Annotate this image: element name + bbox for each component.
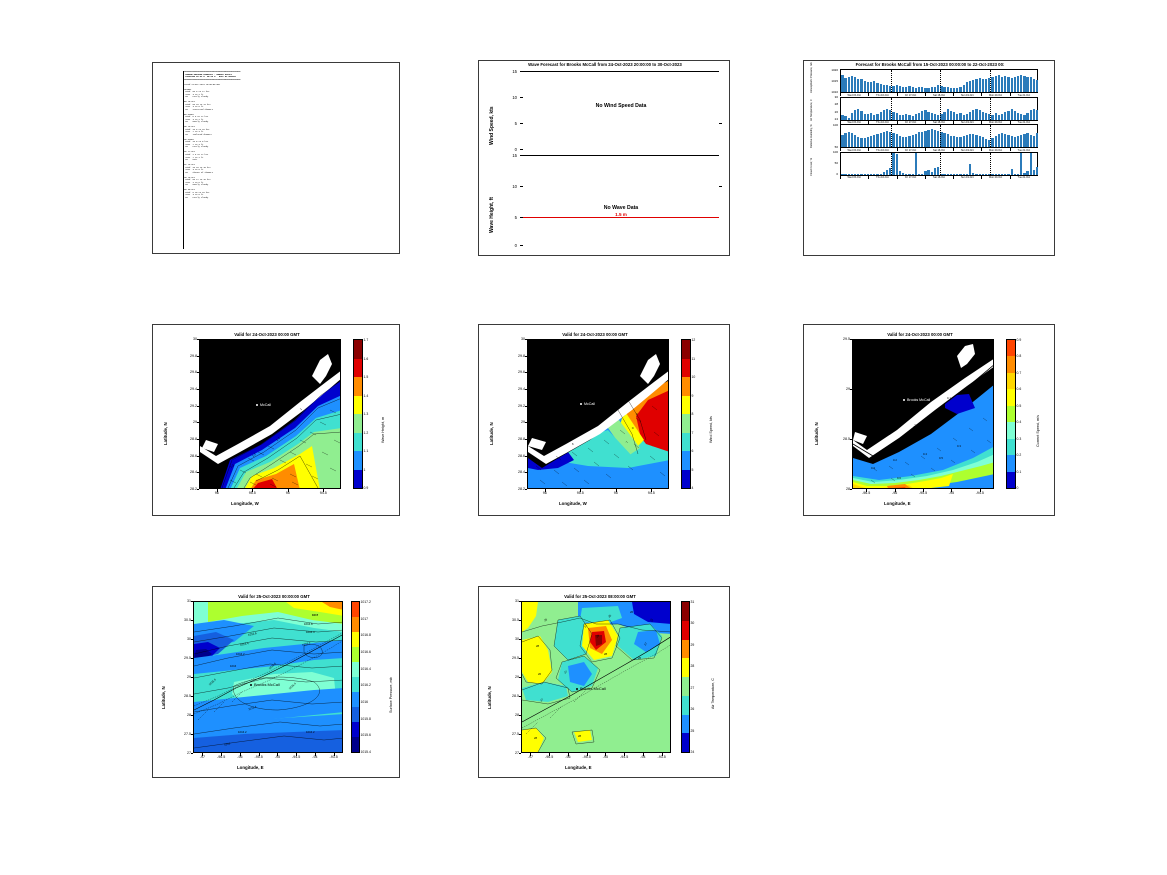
xtickmark xyxy=(530,753,531,756)
pressure-map-xlabel: Longitude, E xyxy=(237,765,264,770)
meteogram-xtickmark xyxy=(925,176,926,179)
wave_map-ytick: 29.4 xyxy=(180,387,197,391)
bar xyxy=(972,173,974,175)
air-temperature-ylabel: Air Temperature, C xyxy=(810,99,813,121)
bar xyxy=(1030,77,1032,92)
temp-map-ylabel: Latitude, N xyxy=(487,686,492,709)
ytickmark xyxy=(519,677,522,678)
bar xyxy=(953,88,955,92)
colorbar-segment xyxy=(682,602,689,621)
wind-contour-10: 10 xyxy=(628,382,631,386)
xtickmark xyxy=(951,489,952,492)
wind-contour-5: 5 xyxy=(542,462,544,466)
colorbar-tick: 1.6 xyxy=(364,357,369,361)
meteogram-xtick: Sat 18-Oct xyxy=(933,176,945,179)
bar xyxy=(956,114,958,119)
temp-map-station-label: Brooks McCall xyxy=(580,686,606,691)
current-contour-04: 0.4 xyxy=(923,452,927,456)
xtickmark xyxy=(202,753,203,756)
bar-series xyxy=(841,70,1037,92)
meteogram-xtickmark xyxy=(897,176,898,179)
ytickmark xyxy=(197,472,200,473)
wind-speed-subplot: No Wind Speed Data 15 10 5 0 xyxy=(523,71,719,149)
ytickmark xyxy=(519,601,522,602)
bar xyxy=(1001,114,1003,120)
xtickmark xyxy=(221,753,222,756)
bar xyxy=(959,113,961,119)
bar xyxy=(953,136,955,147)
bar xyxy=(921,111,923,119)
atmospheric-pressure-ylabel: Atmospheric Pressure, mb xyxy=(810,62,813,93)
wave-ytick-15: 15 xyxy=(503,153,517,158)
bar xyxy=(1036,110,1038,120)
temp_map-ytick: 28.5 xyxy=(502,694,519,698)
wave-field-svg xyxy=(200,340,341,489)
wind-contour-6: 6 xyxy=(572,442,574,446)
bar xyxy=(1001,77,1003,92)
colorbar-segment xyxy=(682,640,689,659)
bar xyxy=(1017,136,1019,147)
colorbar-tick: 4 xyxy=(692,486,694,490)
temp-map-colorbar: 3130292827262524 xyxy=(681,601,690,753)
bar xyxy=(1011,109,1013,119)
bar xyxy=(1026,133,1028,147)
ytickmark xyxy=(191,715,194,716)
bar xyxy=(995,76,997,92)
bar xyxy=(943,133,945,147)
ytickmark xyxy=(197,389,200,390)
bar xyxy=(886,109,888,120)
bar xyxy=(880,84,882,92)
colorbar-tick: 26 xyxy=(691,707,695,711)
colorbar-tick: 1016.2 xyxy=(361,683,371,687)
day-divider xyxy=(891,70,892,92)
bar xyxy=(857,137,859,147)
colorbar-tick: 6 xyxy=(692,449,694,453)
colorbar-tick: 30 xyxy=(691,621,695,625)
bar xyxy=(915,153,917,175)
ytickmark xyxy=(197,422,200,423)
bar xyxy=(972,80,974,92)
xtickmark xyxy=(277,753,278,756)
bar xyxy=(921,132,923,147)
wind-map-station-label: McCall xyxy=(584,402,595,406)
bar xyxy=(991,77,993,92)
temp_map-ytick: 29.5 xyxy=(502,656,519,660)
day-divider xyxy=(990,153,991,175)
colorbar-segment xyxy=(1007,356,1015,373)
bar xyxy=(1033,109,1035,120)
bar xyxy=(896,134,898,147)
ytickmark xyxy=(525,456,528,457)
colorbar-segment xyxy=(352,617,359,632)
colorbar-segment xyxy=(682,414,690,433)
meteogram-xtick: Mon 20-Oct xyxy=(989,176,1002,179)
colorbar-segment xyxy=(1007,406,1015,423)
ytickmark xyxy=(197,339,200,340)
colorbar-segment xyxy=(1007,439,1015,456)
current_map-ytick: 28 xyxy=(833,487,850,491)
temp_map-ytick: 30 xyxy=(502,637,519,641)
bar xyxy=(1033,136,1035,147)
xtickmark xyxy=(651,489,652,492)
wind-speed-map-panel: Valid for 24-Oct-2023 00:00 GMT Latitude… xyxy=(478,324,730,516)
temp-colorbar-title: Air Temperature, C xyxy=(711,678,715,709)
relative-humidity-ylabel: Relative Humidity, % xyxy=(810,124,813,148)
ytickmark xyxy=(519,696,522,697)
day-divider xyxy=(891,125,892,147)
colorbar-segment xyxy=(1007,455,1015,472)
colorbar-segment xyxy=(682,377,690,396)
bar xyxy=(854,110,856,119)
day-divider xyxy=(891,98,892,120)
forecast-text-panel: ========================================… xyxy=(152,62,400,254)
bar xyxy=(1026,171,1028,174)
temp_map-ytick: 29 xyxy=(502,675,519,679)
bar xyxy=(991,138,993,147)
bar xyxy=(969,164,971,174)
colorbar-tick: 0.1 xyxy=(1017,470,1022,474)
bar xyxy=(851,113,853,120)
meteogram-xtickmark xyxy=(868,176,869,179)
colorbar-tick: 1.5 xyxy=(364,375,369,379)
colorbar-segment xyxy=(682,359,690,378)
bar xyxy=(1014,111,1016,119)
bar xyxy=(915,114,917,119)
wave-ytick-5: 5 xyxy=(503,215,517,220)
colorbar-tick: 1.3 xyxy=(364,412,369,416)
current-contour-02c: 0.2 xyxy=(893,458,897,462)
bar xyxy=(892,133,894,147)
colorbar-segment xyxy=(354,433,362,452)
bar xyxy=(864,114,866,120)
bar xyxy=(995,136,997,147)
current-map-axes: Brooks McCall 0.1 0.2 0.2 0.3 0.4 0.5 0.… xyxy=(852,339,994,489)
bar xyxy=(1014,137,1016,147)
xtickmark xyxy=(549,753,550,756)
pressure-map-station-label: Brooks McCall xyxy=(254,682,280,687)
pressure_map-ytick: 29 xyxy=(174,675,191,679)
colorbar-tick: 9 xyxy=(692,394,694,398)
wave-map-colorbar: 1.71.61.51.41.31.21.110.9 xyxy=(353,339,363,489)
ytickmark xyxy=(525,372,528,373)
ytickmark xyxy=(525,356,528,357)
ytickmark xyxy=(197,372,200,373)
colorbar-segment xyxy=(352,647,359,662)
ytickmark xyxy=(197,406,200,407)
bar xyxy=(1023,173,1025,174)
bar xyxy=(844,133,846,147)
current-map-station-label: Brooks McCall xyxy=(907,398,930,402)
bar xyxy=(927,112,929,119)
bar xyxy=(927,88,929,92)
bar xyxy=(982,79,984,92)
bar xyxy=(902,173,904,175)
colorbar-tick: 29 xyxy=(691,643,695,647)
bar xyxy=(934,168,936,174)
bar xyxy=(892,86,894,92)
bar xyxy=(959,87,961,92)
wave-height-axis-label: Wave Height, ft xyxy=(489,197,495,233)
bar xyxy=(873,115,875,120)
bar xyxy=(1001,133,1003,147)
bar xyxy=(883,110,885,120)
colorbar-segment xyxy=(1007,373,1015,390)
bar xyxy=(972,134,974,147)
bar xyxy=(857,79,859,92)
wind-map-colorbar: 121110987654 xyxy=(681,339,691,489)
wind-colorbar-title: Wind Speed, kts xyxy=(709,416,713,443)
colorbar-segment xyxy=(354,340,362,359)
bar xyxy=(876,83,878,92)
xtickmark xyxy=(568,753,569,756)
bar xyxy=(912,87,914,92)
temp-contour-26d: 26 xyxy=(538,672,541,676)
bar xyxy=(931,113,933,119)
colorbar-segment xyxy=(354,451,362,470)
ytickmark xyxy=(525,439,528,440)
air-temperature-ytick: 28 xyxy=(823,102,838,106)
ytickmark xyxy=(197,456,200,457)
bar xyxy=(947,109,949,119)
meteogram-xtick: Sun 19-Oct xyxy=(961,176,974,179)
ytickmark xyxy=(525,472,528,473)
wind-speed-axis-label: Wind Speed, kts xyxy=(489,106,495,145)
bar xyxy=(1030,110,1032,119)
colorbar-segment xyxy=(352,602,359,617)
pressure-colorbar-title: Surface Pressure, mb xyxy=(389,677,393,713)
pressure-contour-1016: 1016 xyxy=(230,664,236,668)
pressure_map-ytick: 29.5 xyxy=(174,656,191,660)
pressure-contour-10162: 1016.2 xyxy=(236,652,245,656)
temp-contour-28c: 28 xyxy=(604,652,607,656)
bar xyxy=(883,132,885,147)
xtickmark xyxy=(895,489,896,492)
ytickmark xyxy=(191,734,194,735)
xtickmark xyxy=(587,753,588,756)
bar xyxy=(883,85,885,92)
xtickmark xyxy=(240,753,241,756)
bar xyxy=(1007,77,1009,92)
colorbar-segment xyxy=(352,737,359,752)
current-map-xlabel: Longitude, E xyxy=(884,501,911,506)
ytickmark xyxy=(191,658,194,659)
bar xyxy=(1023,134,1025,147)
bar xyxy=(1004,134,1006,147)
bar xyxy=(841,115,843,120)
current-contour-03: 0.3 xyxy=(957,444,961,448)
bar xyxy=(1020,135,1022,147)
bar xyxy=(975,135,977,147)
colorbar-tick: 1016.8 xyxy=(361,633,371,637)
wind_map-ytick: 29.8 xyxy=(508,354,525,358)
temp-map-xlabel: Longitude, E xyxy=(565,765,592,770)
temp-field-svg xyxy=(522,602,671,753)
colorbar-segment xyxy=(352,707,359,722)
ytickmark xyxy=(191,620,194,621)
bar xyxy=(841,135,843,147)
pressure-contour-1017: 1017 xyxy=(312,613,318,617)
wave_map-ytick: 28.2 xyxy=(180,487,197,491)
bar xyxy=(979,136,981,147)
bar xyxy=(1004,76,1006,92)
colorbar-tick: 8 xyxy=(692,412,694,416)
bar xyxy=(931,129,933,147)
pressure-contour-10164: 1016.4 xyxy=(306,630,315,634)
colorbar-tick: 1.4 xyxy=(364,394,369,398)
bar xyxy=(1020,153,1022,174)
bar xyxy=(1011,78,1013,92)
bar xyxy=(998,75,1000,92)
colorbar-segment xyxy=(352,692,359,707)
xtickmark xyxy=(323,489,324,492)
bar xyxy=(950,136,952,147)
xtickmark xyxy=(259,753,260,756)
bar xyxy=(1036,133,1038,147)
pressure_map-ytick: 27 xyxy=(174,751,191,755)
meteogram-title: Forecast for Brooks McCall from 15-Oct-2… xyxy=(804,62,1056,67)
bar xyxy=(876,114,878,120)
bar xyxy=(1036,167,1038,174)
meteogram-air-temperature xyxy=(840,97,1038,121)
colorbar-segment xyxy=(682,451,690,470)
bar xyxy=(966,114,968,120)
xtickmark xyxy=(605,753,606,756)
wave_map-ytick: 29.2 xyxy=(180,404,197,408)
bar xyxy=(867,82,869,92)
wave-map-xlabel: Longitude, W xyxy=(231,501,259,506)
colorbar-segment xyxy=(352,662,359,677)
colorbar-segment xyxy=(1007,389,1015,406)
day-divider xyxy=(940,125,941,147)
wind-ytick-15: 15 xyxy=(503,69,517,74)
bar xyxy=(899,171,901,174)
bar xyxy=(873,135,875,147)
bar xyxy=(1023,76,1025,92)
colorbar-segment xyxy=(354,414,362,433)
bar-series xyxy=(841,125,1037,147)
bar xyxy=(912,135,914,147)
meteogram-xtick: Fri 17-Oct xyxy=(905,176,916,179)
bar xyxy=(969,112,971,119)
bar xyxy=(947,87,949,92)
ytickmark xyxy=(525,389,528,390)
pressure_map-ytick: 31 xyxy=(174,599,191,603)
wave_map-ytick: 29.8 xyxy=(180,354,197,358)
temp_map-ytick: 31 xyxy=(502,599,519,603)
meteogram-xtick: Tue 21-Oct xyxy=(1018,176,1030,179)
bar xyxy=(966,82,968,92)
bar-series xyxy=(841,153,1037,175)
pressure_map-ytick: 27.5 xyxy=(174,732,191,736)
wave_map-ytick: 30 xyxy=(180,337,197,341)
pressure_map-ytick: 30.5 xyxy=(174,618,191,622)
colorbar-tick: 1 xyxy=(364,468,366,472)
bar xyxy=(924,131,926,147)
xtickmark xyxy=(580,489,581,492)
bar xyxy=(896,113,898,120)
pressure-contour-10162d: 1016.2 xyxy=(306,730,315,734)
current-contour-01: 0.1 xyxy=(947,396,951,400)
colorbar-tick: 28 xyxy=(691,664,695,668)
bar xyxy=(1033,170,1035,175)
air-temperature-map-panel: Valid for 25-Oct-2023 08:00:00 GMT Latit… xyxy=(478,586,730,778)
bar xyxy=(963,115,965,119)
colorbar-tick: 1015.8 xyxy=(361,717,371,721)
bar xyxy=(921,87,923,92)
ytickmark xyxy=(850,489,853,490)
bar xyxy=(947,134,949,147)
bar xyxy=(1020,114,1022,120)
xtickmark xyxy=(296,753,297,756)
temp_map-ytick: 30.5 xyxy=(502,618,519,622)
current-colorbar-title: Current Speed, m/s xyxy=(1036,415,1040,447)
bar xyxy=(931,87,933,92)
colorbar-tick: 12 xyxy=(692,338,696,342)
bar xyxy=(985,113,987,119)
day-divider xyxy=(990,98,991,120)
bar xyxy=(880,174,882,175)
pressure-contour-10162c: 1016.2 xyxy=(238,730,247,734)
xtickmark xyxy=(980,489,981,492)
current-map-colorbar: 0.90.80.70.60.50.40.30.20.10 xyxy=(1006,339,1016,489)
ytickmark xyxy=(519,734,522,735)
bar xyxy=(1004,112,1006,119)
bar xyxy=(860,138,862,147)
bar xyxy=(934,87,936,92)
air-temperature-ytick: 24 xyxy=(823,117,838,121)
colorbar-segment xyxy=(682,677,689,696)
ytickmark xyxy=(850,439,853,440)
wind-map-title: Valid for 24-Oct-2023 00:00 GMT xyxy=(525,332,665,337)
pressure-map-colorbar: 1017.210171016.81016.61016.41016.2101610… xyxy=(351,601,360,753)
colorbar-segment xyxy=(1007,422,1015,439)
xtickmark xyxy=(252,489,253,492)
bar xyxy=(860,79,862,92)
bar xyxy=(979,110,981,120)
bar xyxy=(844,116,846,119)
atmospheric-pressure-ytick: 1020 xyxy=(823,68,838,72)
xtickmark xyxy=(288,489,289,492)
wind_map-ytick: 29.2 xyxy=(508,404,525,408)
wave-height-map-panel: Valid for 24-Oct-2023 00:00 GMT Latitude… xyxy=(152,324,400,516)
bar xyxy=(905,137,907,147)
wind-map-axes: McCall 10 9 8 7 6 5 xyxy=(527,339,669,489)
colorbar-tick: 0.6 xyxy=(1017,387,1022,391)
bar xyxy=(927,130,929,147)
bar xyxy=(870,113,872,120)
bar xyxy=(864,138,866,147)
current_map-ytick: 29.5 xyxy=(833,337,850,341)
ytickmark xyxy=(191,639,194,640)
ytickmark xyxy=(850,339,853,340)
bar xyxy=(860,111,862,119)
wind_map-ytick: 28.8 xyxy=(508,437,525,441)
current-contour-06: 0.6 xyxy=(897,476,901,480)
colorbar-tick: 0.3 xyxy=(1017,437,1022,441)
bar xyxy=(953,112,955,119)
wind-map-ylabel: Latitude, N xyxy=(489,422,494,445)
bar xyxy=(943,87,945,92)
colorbar-segment xyxy=(1007,472,1015,489)
colorbar-tick: 0.9 xyxy=(1017,338,1022,342)
bar xyxy=(924,171,926,174)
wind_map-ytick: 28.6 xyxy=(508,454,525,458)
bar xyxy=(1020,75,1022,92)
current-contour-02: 0.2 xyxy=(945,412,949,416)
relative-humidity-ytick: 100 xyxy=(823,123,838,127)
ytickmark xyxy=(197,439,200,440)
